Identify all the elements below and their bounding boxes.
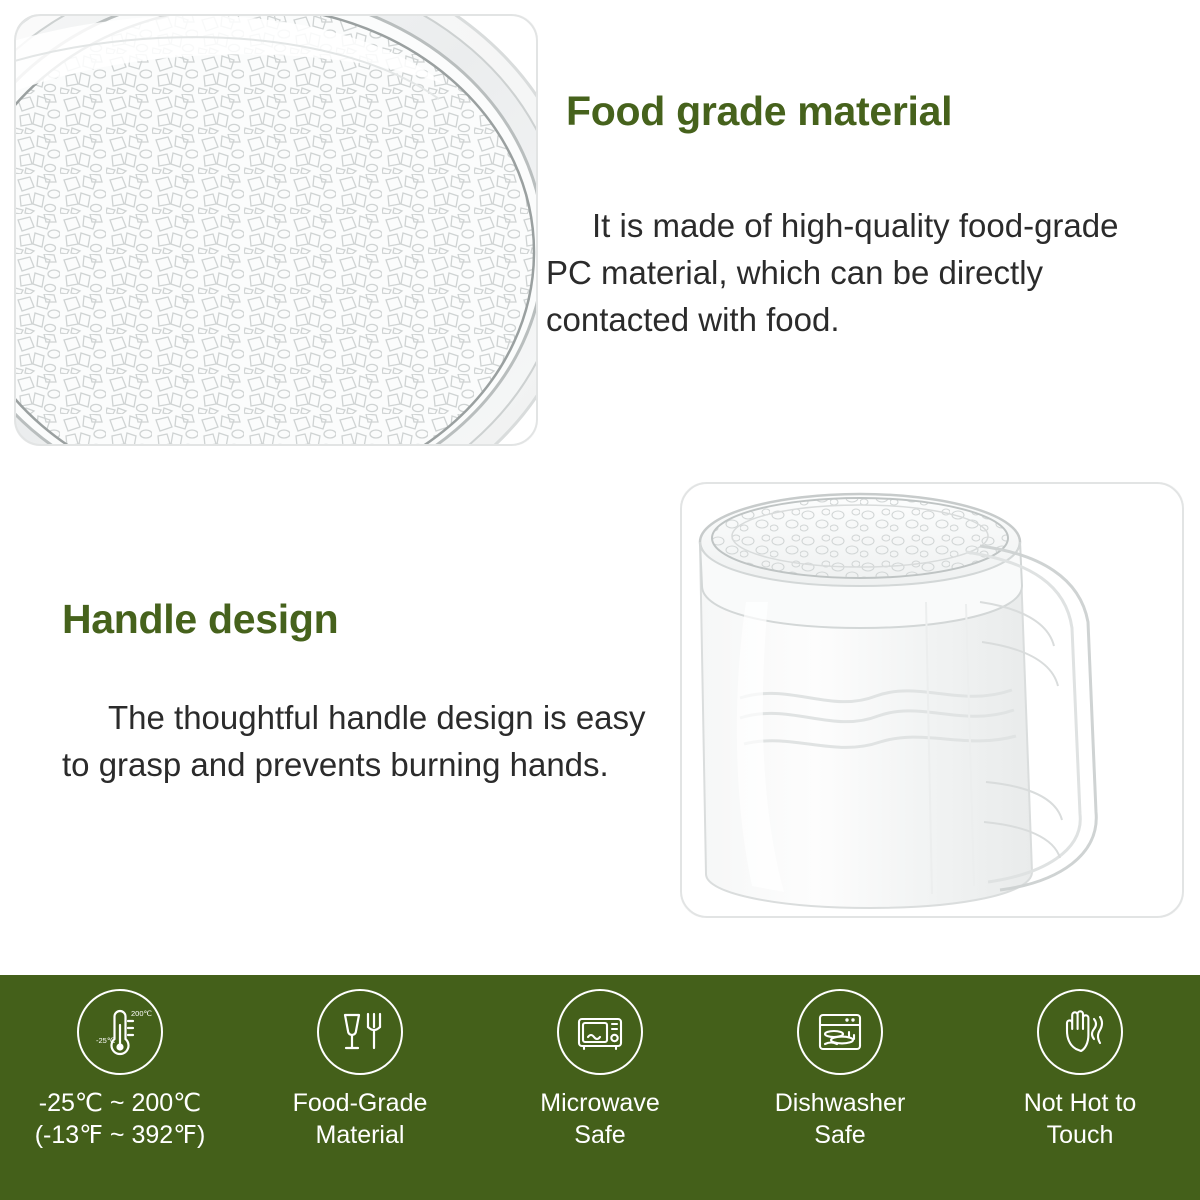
feature-temperature-range: -25℃ 200℃ -25℃ ~ 200℃ (-13℉ ~ 392℉) xyxy=(6,989,234,1151)
fork-glass-food-grade-icon xyxy=(317,989,403,1075)
feature-label: Not Hot to Touch xyxy=(966,1087,1194,1151)
container-handle-closeup-photo xyxy=(680,482,1184,918)
hand-heat-icon xyxy=(1037,989,1123,1075)
thermometer-low-label: -25℃ xyxy=(96,1036,116,1045)
handle-illustration xyxy=(680,482,1184,918)
feature-label: Food-Grade Material xyxy=(246,1087,474,1151)
section-2-paragraph: The thoughtful handle design is easy to … xyxy=(62,695,658,789)
product-feature-page: Food grade material It is made of high-q… xyxy=(0,0,1200,1200)
feature-label: -25℃ ~ 200℃ (-13℉ ~ 392℉) xyxy=(6,1087,234,1151)
lid-texture-illustration xyxy=(14,14,538,446)
dishwasher-icon xyxy=(797,989,883,1075)
feature-strip: -25℃ 200℃ -25℃ ~ 200℃ (-13℉ ~ 392℉) xyxy=(0,975,1200,1200)
feature-microwave-safe: Microwave Safe xyxy=(486,989,714,1151)
feature-dishwasher-safe: Dishwasher Safe xyxy=(726,989,954,1151)
section-2-headline: Handle design xyxy=(62,596,338,643)
feature-label: Dishwasher Safe xyxy=(726,1087,954,1151)
microwave-icon xyxy=(557,989,643,1075)
feature-not-hot-to-touch: Not Hot to Touch xyxy=(966,989,1194,1151)
thermometer-icon: -25℃ 200℃ xyxy=(77,989,163,1075)
section-1-headline: Food grade material xyxy=(566,88,952,135)
feature-food-grade: Food-Grade Material xyxy=(246,989,474,1151)
thermometer-high-label: 200℃ xyxy=(131,1009,153,1018)
lid-texture-closeup-photo xyxy=(14,14,538,446)
feature-label: Microwave Safe xyxy=(486,1087,714,1151)
section-1-paragraph: It is made of high-quality food-grade PC… xyxy=(546,203,1164,344)
